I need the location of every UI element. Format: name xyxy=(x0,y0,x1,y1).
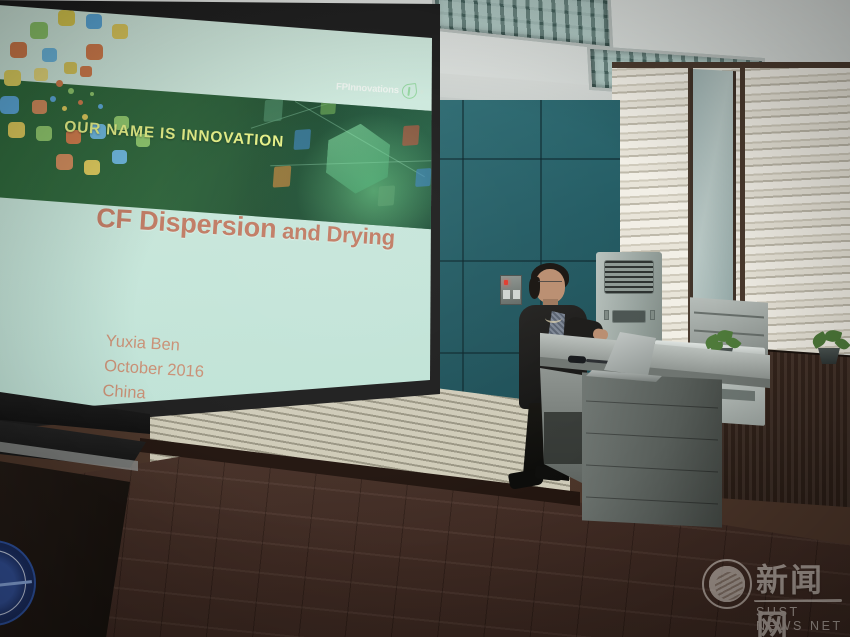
air-conditioner-display xyxy=(612,310,646,323)
university-emblem xyxy=(0,540,36,626)
registered-mark: ® xyxy=(420,89,424,95)
glasses xyxy=(538,281,562,288)
lectern-side xyxy=(540,368,588,486)
network-cube-graphic xyxy=(224,76,438,232)
projection-screen: OUR NAME IS INNOVATION FPInnovations ® C… xyxy=(0,0,438,422)
presentation-room-photo: OUR NAME IS INNOVATION FPInnovations ® C… xyxy=(0,0,850,637)
fpinnovations-wordmark: FPInnovations xyxy=(336,81,399,96)
laptop[interactable] xyxy=(586,332,666,386)
laptop-screen xyxy=(604,332,656,376)
lectern-front-panel xyxy=(582,372,722,527)
colored-squares-swirl-graphic xyxy=(0,8,200,198)
lecture-podium[interactable] xyxy=(0,392,155,637)
fpinnovations-logo: FPInnovations ® xyxy=(336,79,424,99)
microphone[interactable] xyxy=(568,355,586,363)
news-watermark: 新闻网 SUST NEWS NET xyxy=(700,553,845,631)
glowing-cube-icon xyxy=(325,121,392,195)
sust-seal-icon xyxy=(702,559,752,609)
leaf-icon xyxy=(401,83,418,100)
watermark-english-text: SUST NEWS NET xyxy=(756,605,845,633)
window-header xyxy=(612,62,850,68)
air-conditioner-button-right[interactable] xyxy=(650,310,655,320)
necklace xyxy=(545,313,562,323)
sust-seal-inner xyxy=(715,572,743,600)
